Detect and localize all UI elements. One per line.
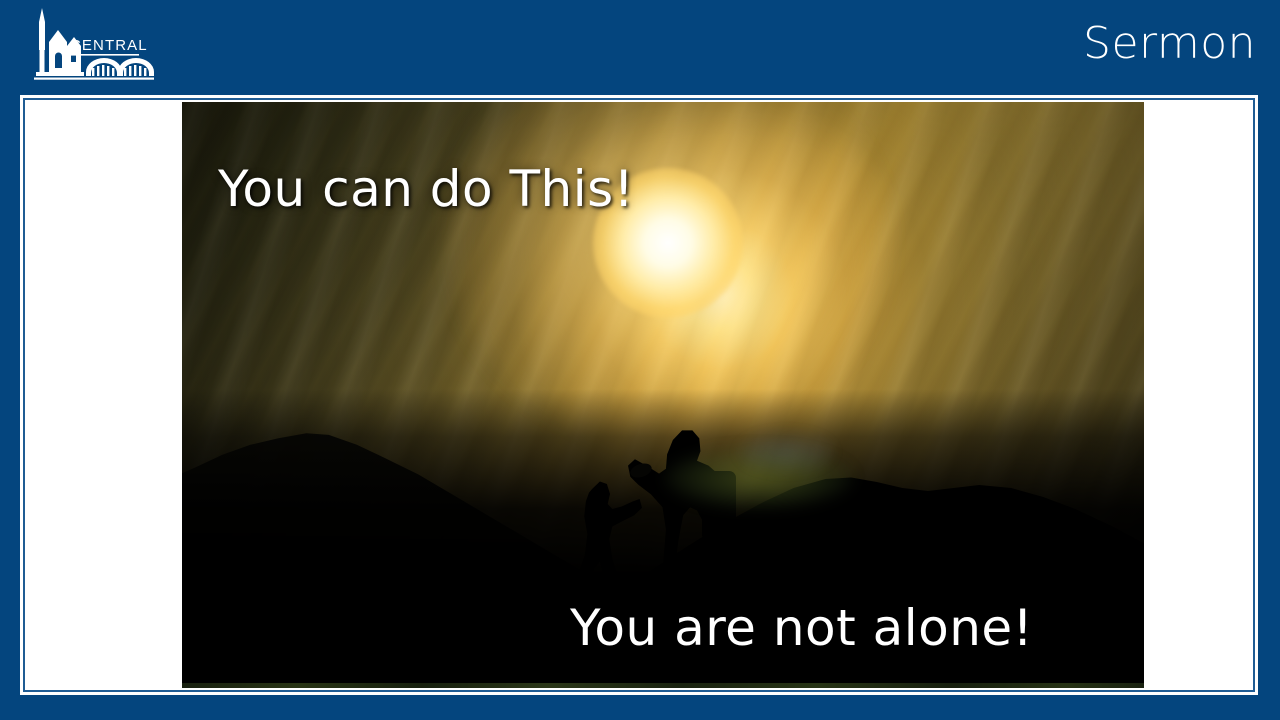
church-spire-bridge-logo-icon: CENTRAL (14, 6, 154, 86)
slide-canvas: You can do This! You are not alone! (27, 102, 1251, 688)
presentation-slide-view: CENTRAL Sermon (0, 0, 1280, 720)
slide-headline-bottom: You are not alone! (570, 599, 1033, 657)
ridge-vegetation (782, 505, 962, 537)
slide-frame: You can do This! You are not alone! (20, 95, 1258, 695)
svg-text:CENTRAL: CENTRAL (70, 37, 148, 54)
page-title: Sermon (1083, 18, 1256, 70)
photo-bottom-edge-strip (182, 683, 1144, 688)
header-bar: CENTRAL Sermon (0, 0, 1280, 95)
brand-logo[interactable]: CENTRAL (14, 6, 154, 86)
slide-headline-top: You can do This! (218, 160, 634, 218)
lens-flare-blue (738, 432, 834, 472)
sunset-mountain-helping-hand-photo: You can do This! You are not alone! (182, 102, 1144, 688)
slide-frame-rule: You can do This! You are not alone! (23, 98, 1255, 692)
